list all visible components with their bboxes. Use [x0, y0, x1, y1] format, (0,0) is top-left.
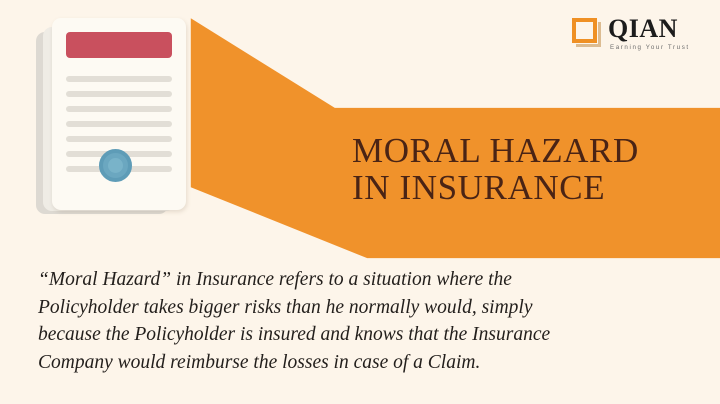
brand-tagline: Earning Your Trust	[610, 44, 690, 51]
document-text-line	[66, 106, 172, 112]
page-title-line-2: IN INSURANCE	[352, 169, 682, 206]
document-seal-icon	[99, 149, 132, 182]
document-text-line	[66, 121, 172, 127]
body-paragraph-line-2: Policyholder takes bigger risks than he …	[38, 294, 690, 322]
infographic-canvas: QIAN Earning Your Trust MORAL HAZARD IN …	[0, 0, 720, 404]
document-seal-inner	[108, 158, 123, 173]
brand-name: QIAN	[608, 16, 678, 42]
body-paragraph-line-1: “Moral Hazard” in Insurance refers to a …	[38, 266, 690, 294]
body-paragraph-line-4: Company would reimburse the losses in ca…	[38, 349, 690, 377]
square-outline-icon	[572, 18, 601, 47]
page-title: MORAL HAZARD IN INSURANCE	[352, 132, 682, 207]
document-header-bar	[66, 32, 172, 58]
document-text-line	[66, 136, 172, 142]
square-outline-border	[572, 18, 597, 43]
page-title-line-1: MORAL HAZARD	[352, 132, 682, 169]
document-stack-illustration	[36, 18, 196, 218]
brand-logo: QIAN Earning Your Trust	[572, 16, 708, 60]
body-paragraph: “Moral Hazard” in Insurance refers to a …	[38, 266, 690, 377]
document-text-line	[66, 91, 172, 97]
document-text-line	[66, 76, 172, 82]
body-paragraph-line-3: because the Policyholder is insured and …	[38, 321, 690, 349]
document-sheet-front	[52, 18, 186, 210]
